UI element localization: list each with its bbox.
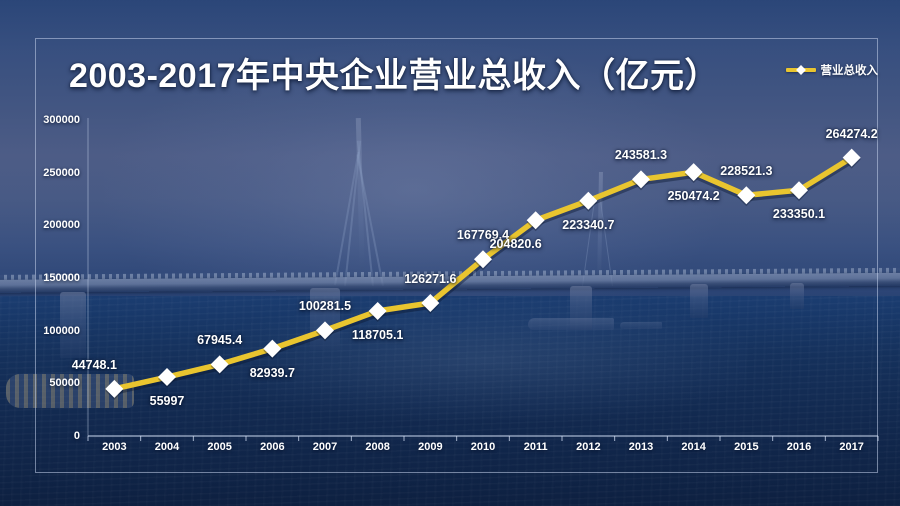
legend-line-marker-icon	[786, 68, 816, 72]
line-chart-svg	[88, 120, 878, 436]
series-marker	[737, 186, 755, 204]
legend-entry-label: 营业总收入	[821, 62, 879, 78]
page-title: 2003-2017年中央企业营业总收入（亿元）	[0, 48, 900, 97]
chart-legend: 营业总收入	[786, 62, 879, 78]
chart-plot-area: 44748.15599767945.482939.7100281.5118705…	[88, 120, 878, 436]
slide-canvas: 2003-2017年中央企业营业总收入（亿元） 营业总收入 0500001000…	[0, 0, 900, 506]
bridge-pier-1	[60, 292, 86, 358]
series-marker	[105, 380, 123, 398]
